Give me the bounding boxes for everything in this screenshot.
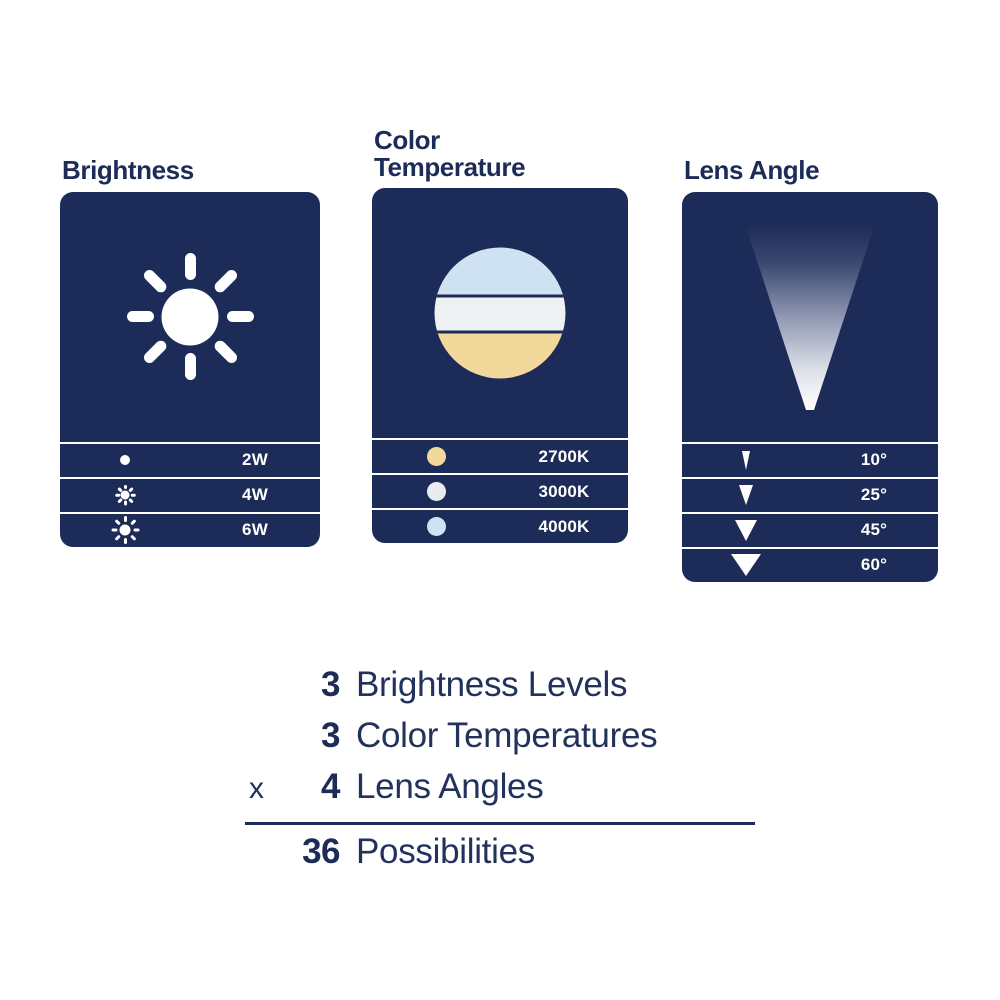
row-icon-cell: [372, 475, 500, 508]
table-row[interactable]: 25°: [682, 477, 938, 512]
summary-line: x 4 Lens Angles: [230, 767, 1000, 818]
row-icon-cell: [682, 444, 810, 477]
mini-sun-ray: [124, 501, 127, 506]
warm-swatch-icon: [427, 447, 446, 466]
card-body-brightness: 2W: [60, 192, 320, 547]
table-row[interactable]: 2700K: [372, 438, 628, 473]
warm-band: [435, 334, 566, 379]
summary-label: Lens Angles: [340, 767, 543, 807]
sun-ray: [212, 338, 239, 365]
summary-total-number: 36: [270, 832, 340, 872]
sun-ray: [185, 353, 196, 380]
beam-cone-icon: [740, 222, 880, 412]
mini-sun-ray: [130, 519, 136, 525]
card-body-lens-angle: 10° 25° 45°: [682, 192, 938, 582]
infographic-canvas: Brightness: [0, 0, 1000, 1000]
sun-ray: [185, 253, 196, 280]
summary-operator: x: [230, 772, 270, 806]
mini-sun-ray: [117, 487, 122, 492]
card-lens-angle: Lens Angle: [682, 157, 938, 582]
summary-line: 3 Brightness Levels: [230, 665, 1000, 716]
row-label: 25°: [810, 485, 938, 505]
row-icon-cell: [60, 444, 190, 477]
mini-sun-core: [121, 491, 130, 500]
sun-core: [162, 288, 219, 345]
card-title-lens-angle: Lens Angle: [684, 157, 938, 184]
mini-sun-ray: [128, 498, 133, 503]
table-row[interactable]: 45°: [682, 512, 938, 547]
mini-sun-ray: [115, 494, 120, 497]
neutral-band: [435, 295, 566, 334]
mini-sun-ray: [131, 494, 136, 497]
row-icon-cell: [372, 510, 500, 543]
lens-angle-row-list: 10° 25° 45°: [682, 442, 938, 582]
color-temperature-circle-icon: [435, 248, 566, 379]
row-label: 3000K: [500, 482, 628, 502]
sun-ray: [141, 268, 168, 295]
narrow-beam-icon: [742, 451, 750, 470]
row-icon-cell: [372, 440, 500, 473]
card-brightness: Brightness: [60, 157, 320, 547]
sun-ray: [127, 311, 154, 322]
card-color-temperature: Color Temperature 2700K: [372, 127, 628, 543]
row-label: 45°: [810, 520, 938, 540]
summary-number: 4: [270, 767, 340, 807]
mini-sun-ray: [130, 535, 136, 541]
mini-sun-ray: [114, 519, 120, 525]
table-row[interactable]: 10°: [682, 442, 938, 477]
row-icon-cell: [60, 514, 190, 547]
summary-total-line: 36 Possibilities: [230, 832, 1000, 883]
summary-total-label: Possibilities: [340, 832, 535, 872]
table-row[interactable]: 4W: [60, 477, 320, 512]
card-title-color-temperature: Color Temperature: [374, 127, 628, 180]
summary-number: 3: [270, 716, 340, 756]
table-row[interactable]: 4000K: [372, 508, 628, 543]
mini-sun-core: [120, 525, 131, 536]
cool-band: [435, 248, 566, 295]
mini-sun-ray: [124, 485, 127, 490]
mini-sun-ray: [114, 535, 120, 541]
row-icon-cell: [682, 514, 810, 547]
mini-sun-ray: [111, 529, 117, 532]
medium-narrow-beam-icon: [739, 485, 753, 505]
brightness-row-list: 2W: [60, 442, 320, 547]
row-icon-cell: [682, 549, 810, 582]
row-icon-cell: [682, 479, 810, 512]
sun-ray: [227, 311, 254, 322]
row-label: 2700K: [500, 447, 628, 467]
sun-ray: [212, 268, 239, 295]
mini-sun-ray: [128, 487, 133, 492]
table-row[interactable]: 2W: [60, 442, 320, 477]
summary-label: Color Temperatures: [340, 716, 657, 756]
row-label: 10°: [810, 450, 938, 470]
row-label: 4W: [190, 485, 320, 505]
color-temperature-row-list: 2700K 3000K 4000K: [372, 438, 628, 543]
row-label: 60°: [810, 555, 938, 575]
neutral-swatch-icon: [427, 482, 446, 501]
summary-block: 3 Brightness Levels 3 Color Temperatures…: [0, 665, 1000, 883]
medium-wide-beam-icon: [735, 520, 757, 541]
summary-divider: [245, 822, 755, 825]
row-label: 4000K: [500, 517, 628, 537]
mini-sun-ray: [124, 516, 127, 522]
table-row[interactable]: 60°: [682, 547, 938, 582]
row-icon-cell: [60, 479, 190, 512]
wide-beam-icon: [731, 554, 761, 576]
mini-sun-ray: [124, 538, 127, 544]
sun-ray: [141, 338, 168, 365]
summary-label: Brightness Levels: [340, 665, 627, 705]
large-sun-icon: [111, 516, 139, 544]
sun-icon: [126, 253, 254, 381]
brightness-hero-art: [60, 192, 320, 442]
row-label: 2W: [190, 450, 320, 470]
cool-swatch-icon: [427, 517, 446, 536]
mini-sun-ray: [117, 498, 122, 503]
lens-angle-hero-art: [682, 192, 938, 442]
card-title-brightness: Brightness: [62, 157, 320, 184]
table-row[interactable]: 3000K: [372, 473, 628, 508]
dot-icon: [120, 455, 130, 465]
color-temperature-hero-art: [372, 188, 628, 438]
mini-sun-ray: [133, 529, 139, 532]
row-label: 6W: [190, 520, 320, 540]
summary-line: 3 Color Temperatures: [230, 716, 1000, 767]
summary-number: 3: [270, 665, 340, 705]
small-sun-icon: [114, 484, 136, 506]
card-body-color-temperature: 2700K 3000K 4000K: [372, 188, 628, 543]
table-row[interactable]: 6W: [60, 512, 320, 547]
